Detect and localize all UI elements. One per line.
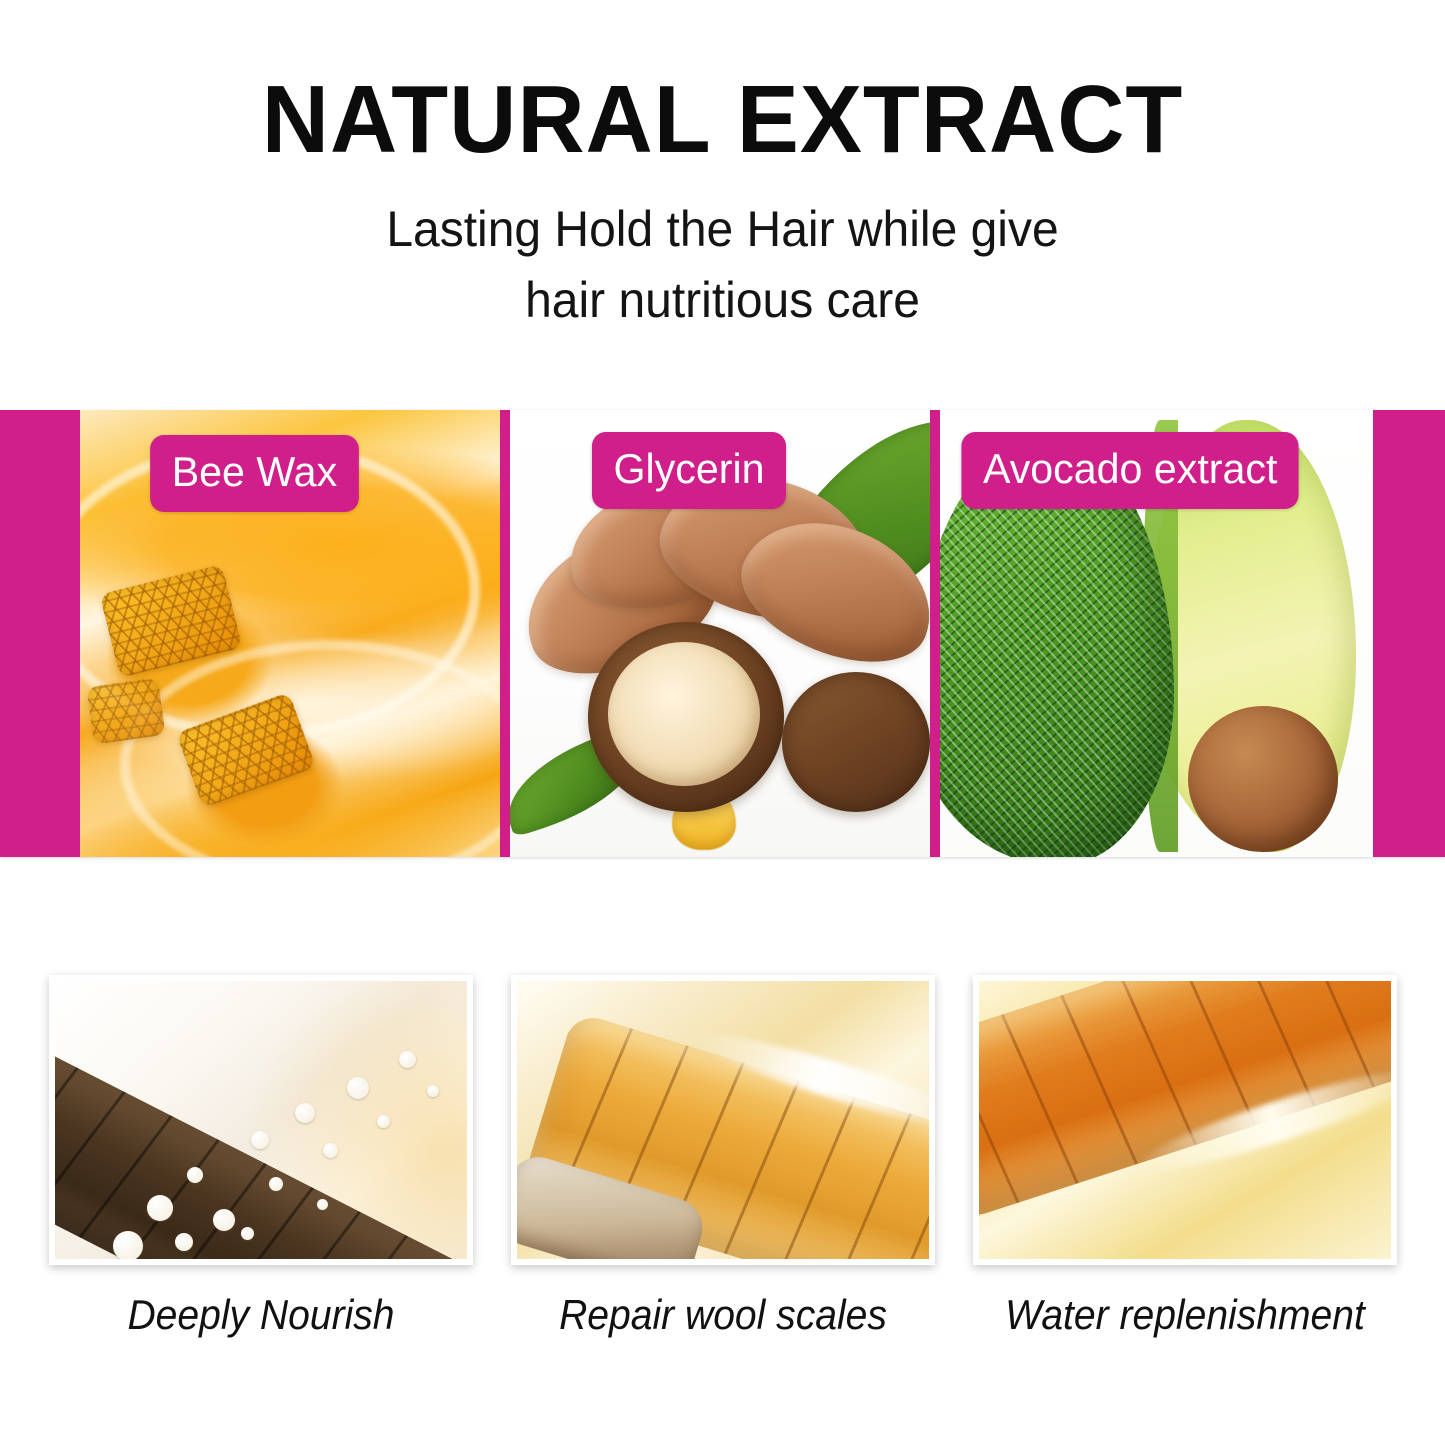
benefit-caption: Water replenishment (987, 1291, 1381, 1339)
cracked-nut-shape (782, 672, 930, 812)
strip-right-band (1373, 410, 1445, 857)
particle-dot (269, 1177, 283, 1191)
particle-dot (241, 1227, 254, 1240)
honeycomb-icon (86, 677, 165, 744)
benefit-item-deeply-nourish: Deeply Nourish (49, 975, 473, 1339)
benefit-caption: Deeply Nourish (63, 1291, 457, 1339)
ingredient-label-bee-wax: Bee Wax (150, 435, 359, 512)
particle-dot (323, 1143, 338, 1158)
ingredient-panel-avocado-extract: Avocado extract (940, 410, 1373, 857)
cracked-nut-shape (588, 622, 784, 812)
ingredient-label-avocado-extract: Avocado extract (961, 432, 1299, 509)
particle-dot (347, 1077, 369, 1099)
strip-left-band (0, 410, 80, 857)
subtitle-line-2: hair nutritious care (29, 265, 1416, 336)
benefit-item-repair-wool-scales: Repair wool scales (511, 975, 935, 1339)
page-header: NATURAL EXTRACT Lasting Hold the Hair wh… (0, 0, 1445, 336)
particle-dot (113, 1231, 143, 1259)
golden-hair-image (517, 981, 929, 1259)
benefit-image-card (511, 975, 935, 1265)
ingredient-panel-bee-wax: Bee Wax (80, 410, 500, 857)
particle-dot (399, 1051, 416, 1068)
strip-divider (930, 410, 940, 857)
page-subtitle: Lasting Hold the Hair while give hair nu… (29, 194, 1416, 336)
benefit-image-card (973, 975, 1397, 1265)
particle-dot (187, 1167, 203, 1183)
avocado-pit-shape (1188, 706, 1338, 852)
damaged-hair-image (55, 981, 467, 1259)
particle-dot (427, 1085, 439, 1097)
particle-dot (147, 1195, 173, 1221)
benefit-image-card (49, 975, 473, 1265)
particle-dot (317, 1199, 328, 1210)
ingredients-strip: Bee Wax Glycerin Avocado extract (0, 410, 1445, 857)
benefit-item-water-replenishment: Water replenishment (973, 975, 1397, 1339)
benefit-caption: Repair wool scales (525, 1291, 919, 1339)
benefits-row: Deeply Nourish Repair wool scales Water … (0, 975, 1445, 1339)
ingredient-label-glycerin: Glycerin (592, 432, 786, 509)
particle-dot (295, 1103, 315, 1123)
amber-hair-image (979, 981, 1391, 1259)
strip-divider (500, 410, 510, 857)
subtitle-line-1: Lasting Hold the Hair while give (29, 194, 1416, 265)
particle-dot (251, 1131, 269, 1149)
particle-dot (213, 1209, 235, 1231)
particle-dot (175, 1233, 193, 1251)
page-title: NATURAL EXTRACT (22, 72, 1424, 168)
ingredient-panel-glycerin: Glycerin (510, 410, 930, 857)
particle-dot (377, 1115, 390, 1128)
